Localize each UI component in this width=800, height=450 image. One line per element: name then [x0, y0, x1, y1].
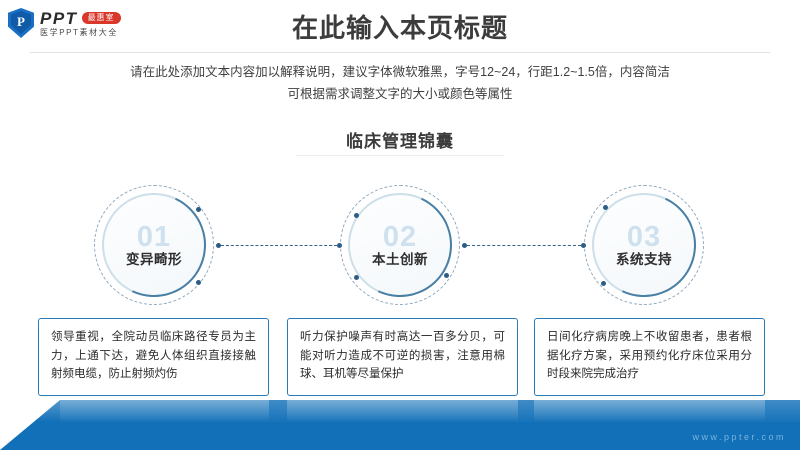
- node-label: 本土创新: [372, 253, 428, 268]
- connector-1-2: [216, 243, 342, 248]
- connector-2-3: [462, 243, 586, 248]
- page-subtitle-line-2: 可根据需求调整文字的大小或颜色等属性: [60, 84, 740, 106]
- process-diagram: 01 变异畸形 02 本土创新 03 系统支持: [0, 185, 800, 315]
- diagram-node-3[interactable]: 03 系统支持: [584, 185, 704, 305]
- info-card-2[interactable]: 听力保护噪声有时高达一百多分贝，可能对听力造成不可逆的损害，注意用棉球、耳机等尽…: [287, 318, 518, 396]
- diagram-node-2[interactable]: 02 本土创新: [340, 185, 460, 305]
- section-divider: [296, 155, 504, 156]
- page-title: 在此输入本页标题: [0, 14, 800, 44]
- node-number: 01: [137, 223, 171, 252]
- title-divider: [30, 52, 770, 53]
- node-label: 系统支持: [616, 253, 672, 268]
- node-number: 03: [627, 223, 661, 252]
- diagram-node-1[interactable]: 01 变异畸形: [94, 185, 214, 305]
- info-card-1[interactable]: 领导重视，全院动员临床路径专员为主力，上通下达，避免人体组织直接接触射频电缆，防…: [38, 318, 269, 396]
- page-subtitle: 请在此处添加文本内容加以解释说明，建议字体微软雅黑，字号12~24，行距1.2~…: [60, 62, 740, 106]
- info-card-3[interactable]: 日间化疗病房晚上不收留患者，患者根据化疗方案，采用预约化疗床位采用分时段来院完成…: [534, 318, 765, 396]
- section-heading: 临床管理锦囊: [0, 127, 800, 152]
- node-label: 变异畸形: [126, 253, 182, 268]
- watermark: www.ppter.com: [692, 432, 786, 442]
- node-number: 02: [383, 223, 417, 252]
- page-subtitle-line-1: 请在此处添加文本内容加以解释说明，建议字体微软雅黑，字号12~24，行距1.2~…: [60, 62, 740, 84]
